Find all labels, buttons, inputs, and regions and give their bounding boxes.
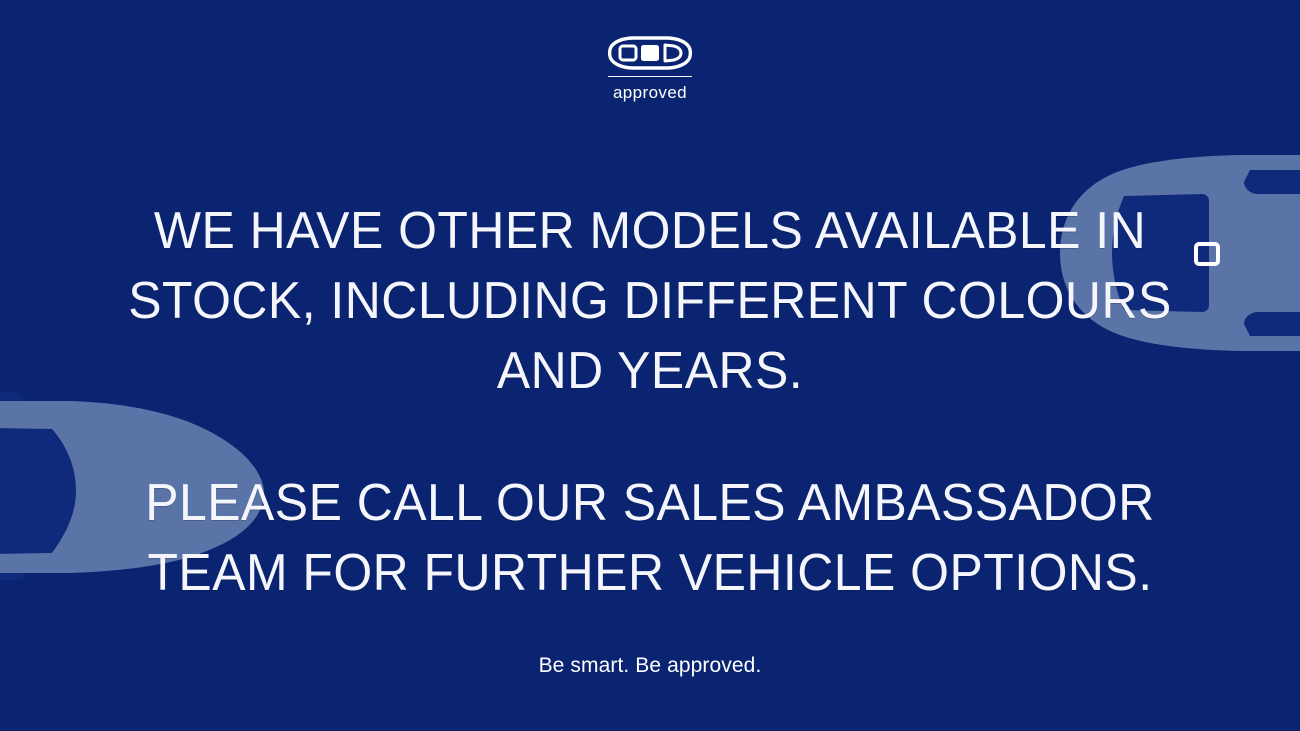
footer-tagline-block: Be smart. Be approved. <box>0 653 1300 679</box>
slide-canvas: approved WE HAVE OTHER MODELS AVAILABLE … <box>0 0 1300 731</box>
brand-tagline: Be smart. Be approved. <box>0 653 1300 679</box>
message-block: WE HAVE OTHER MODELS AVAILABLE IN STOCK,… <box>0 196 1300 608</box>
car-top-view-icon <box>608 36 692 70</box>
brand-logo: approved <box>0 36 1300 101</box>
message-paragraph-1: WE HAVE OTHER MODELS AVAILABLE IN STOCK,… <box>26 196 1274 406</box>
logo-wordmark: approved <box>613 84 687 101</box>
logo-divider <box>608 76 692 77</box>
message-paragraph-2: PLEASE CALL OUR SALES AMBASSADOR TEAM FO… <box>26 468 1274 608</box>
